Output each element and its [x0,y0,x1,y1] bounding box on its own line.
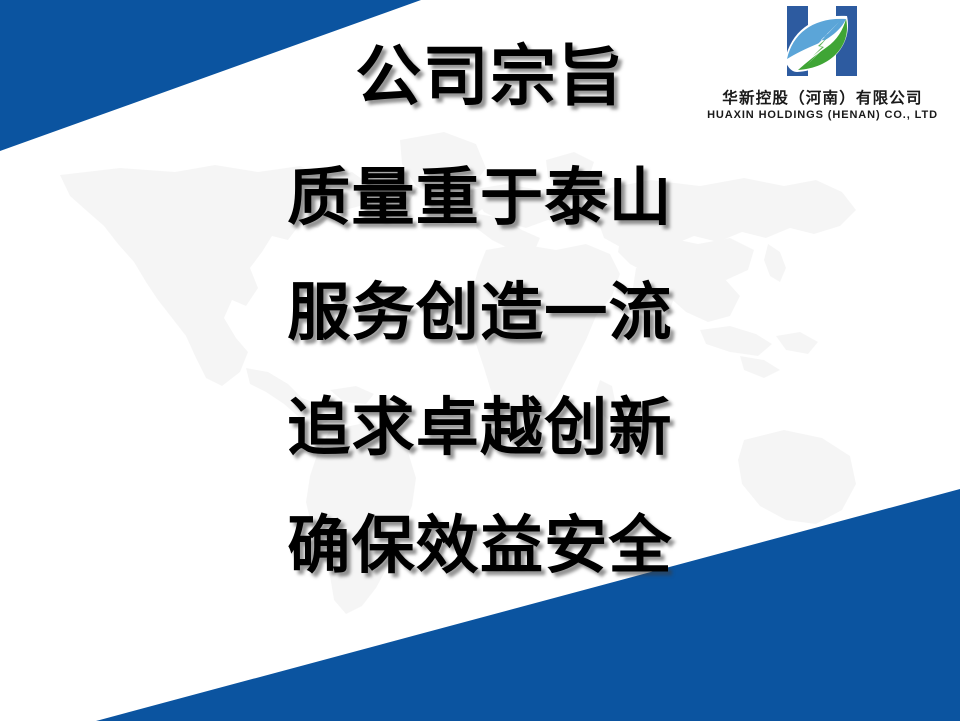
company-name-en: HUAXIN HOLDINGS (HENAN) CO., LTD [690,109,955,121]
motto-line: 确保效益安全 [0,508,960,584]
motto-line: 质量重于泰山 [0,160,960,236]
motto-line: 服务创造一流 [0,275,960,351]
motto-line: 追求卓越创新 [0,390,960,466]
slide-canvas: 公司宗旨 质量重于泰山 服务创造一流 追求卓越创新 确保效益安全 华新控股（河南… [0,0,960,721]
huaxin-h-leaf-icon [781,4,865,84]
company-logo: 华新控股（河南）有限公司 HUAXIN HOLDINGS (HENAN) CO.… [690,4,955,122]
company-name-cn: 华新控股（河南）有限公司 [690,86,955,108]
